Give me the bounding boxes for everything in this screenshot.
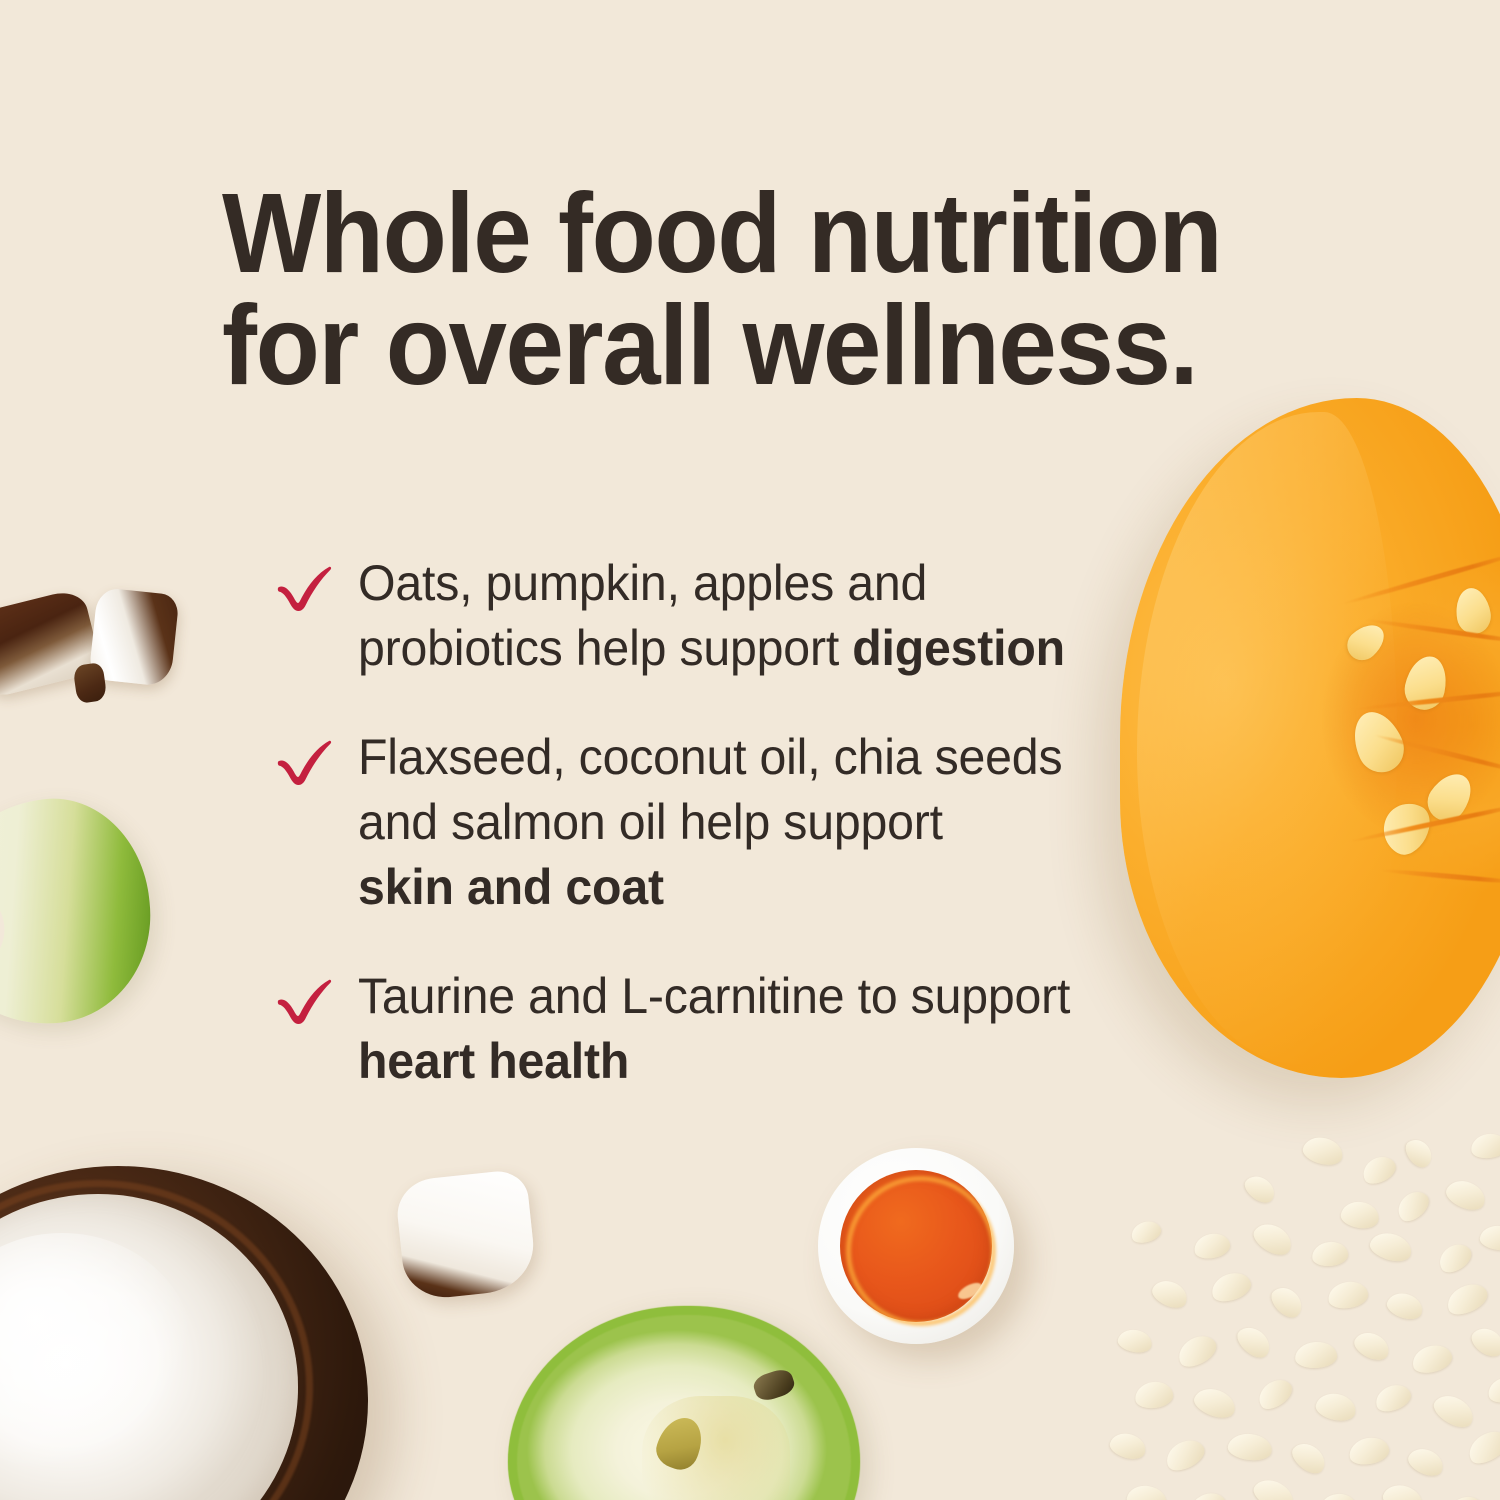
list-item-text: Taurine and L-carnitine to support heart…	[358, 964, 1225, 1094]
oat-flake	[1384, 1289, 1426, 1323]
bullet-line: and salmon oil help support	[358, 794, 943, 850]
oat-flake	[1430, 1389, 1479, 1433]
apple-slice-core-notch	[0, 880, 9, 979]
bullet-emphasis: digestion	[852, 620, 1065, 676]
salmon-oil	[840, 1170, 993, 1323]
oat-flake	[1319, 1492, 1357, 1500]
oat-flake	[1149, 1276, 1192, 1313]
oat-flake	[1129, 1218, 1164, 1246]
oat-flake	[1107, 1430, 1148, 1463]
oat-flake	[1339, 1199, 1380, 1230]
oat-flake	[1232, 1321, 1275, 1363]
checkmark-icon	[276, 978, 334, 1026]
oat-flake	[1443, 1175, 1490, 1214]
oat-flake	[1249, 1218, 1297, 1261]
checkmark-icon	[276, 565, 334, 613]
oat-flake	[1434, 1239, 1476, 1278]
coconut-half-photo	[0, 1166, 368, 1500]
oat-flake	[1191, 1384, 1239, 1423]
oat-flake	[1467, 1323, 1500, 1362]
oat-flake	[1470, 1132, 1500, 1161]
oat-flake	[1443, 1491, 1486, 1500]
oat-flake	[1192, 1231, 1232, 1262]
oat-flake	[1371, 1380, 1413, 1416]
oat-flake	[1301, 1134, 1346, 1169]
oat-flake	[1486, 1374, 1500, 1406]
list-item: Flaxseed, coconut oil, chia seeds and sa…	[276, 725, 1256, 920]
checkmark-icon	[276, 739, 334, 787]
oat-flake	[1208, 1268, 1254, 1306]
oat-flake	[1226, 1432, 1272, 1462]
rolled-oats-photo	[1110, 1130, 1500, 1500]
bullet-emphasis: heart health	[358, 1033, 629, 1089]
list-item: Oats, pumpkin, apples and probiotics hel…	[276, 551, 1256, 681]
oat-flake	[1401, 1134, 1437, 1171]
apple-half-photo	[508, 1306, 860, 1500]
bullet-line: Flaxseed, coconut oil, chia seeds	[358, 729, 1062, 785]
oat-flake	[1117, 1327, 1154, 1355]
list-item-text: Flaxseed, coconut oil, chia seeds and sa…	[358, 725, 1225, 920]
coconut-chunk-photo	[394, 1168, 538, 1301]
oat-flake	[1266, 1282, 1307, 1323]
oat-flake	[1347, 1434, 1392, 1468]
oat-flake	[1314, 1390, 1359, 1424]
oat-flake	[1173, 1330, 1221, 1373]
bullet-line: Oats, pumpkin, apples and	[358, 555, 927, 611]
oat-flake	[1478, 1224, 1500, 1252]
apple-slice-photo	[0, 789, 161, 1034]
headline-block: Whole food nutrition for overall wellnes…	[222, 178, 1312, 402]
bullet-emphasis: skin and coat	[358, 859, 664, 915]
oat-flake	[1410, 1341, 1456, 1377]
oat-flake	[1380, 1480, 1426, 1500]
oat-flake	[1249, 1474, 1298, 1500]
oat-flake	[1287, 1437, 1330, 1478]
benefits-list: Oats, pumpkin, apples and probiotics hel…	[276, 551, 1256, 1094]
oat-flake	[1405, 1444, 1448, 1481]
oat-flake	[1253, 1374, 1296, 1415]
oat-flake	[1463, 1425, 1500, 1469]
oat-flake	[1161, 1434, 1209, 1476]
oat-flake	[1326, 1279, 1370, 1312]
infographic-canvas: Whole food nutrition for overall wellnes…	[0, 0, 1500, 1500]
oat-flake	[1294, 1341, 1338, 1370]
list-item: Taurine and L-carnitine to support heart…	[276, 964, 1256, 1094]
oat-flake	[1125, 1483, 1169, 1500]
salmon-oil-bowl-photo	[818, 1148, 1014, 1344]
oat-flake	[1310, 1240, 1348, 1268]
oat-flake	[1442, 1278, 1491, 1320]
oat-flake	[1134, 1379, 1175, 1410]
oat-flake	[1187, 1489, 1229, 1500]
bullet-line: Taurine and L-carnitine to support	[358, 968, 1070, 1024]
oat-flake	[1350, 1327, 1393, 1364]
page-title: Whole food nutrition for overall wellnes…	[222, 178, 1236, 402]
list-item-text: Oats, pumpkin, apples and probiotics hel…	[358, 551, 1225, 681]
oat-flake	[1241, 1171, 1280, 1208]
coconut-chunk-photo	[73, 662, 108, 704]
coconut-husk-rim	[0, 1180, 313, 1500]
oat-flake	[1392, 1186, 1433, 1227]
oat-flake	[1358, 1151, 1399, 1188]
oat-flake	[1368, 1229, 1416, 1266]
bullet-line: probiotics help support	[358, 620, 852, 676]
